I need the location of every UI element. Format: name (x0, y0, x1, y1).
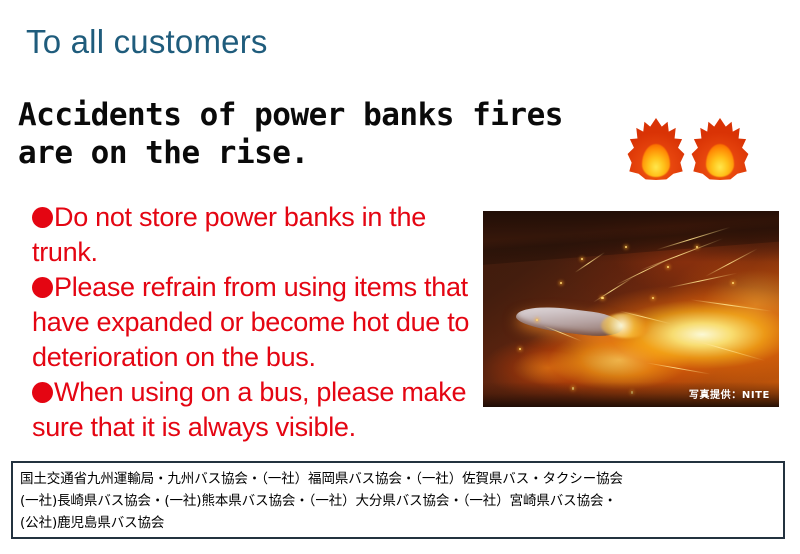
spark-streak (691, 299, 773, 312)
spark-streak (574, 252, 604, 273)
headline: Accidents of power banks fires are on th… (18, 96, 718, 172)
bullet-dot-icon (32, 207, 53, 228)
ember-dot (581, 258, 583, 260)
bullet-dot-icon (32, 277, 53, 298)
list-item-text: Please refrain from using items that hav… (32, 272, 469, 372)
fire-emoji (691, 118, 749, 180)
list-item-text: Do not store power banks in the trunk. (32, 202, 426, 267)
fire-emoji-inner-flame (706, 144, 734, 177)
ember-dot (625, 246, 627, 248)
advisory-list: Do not store power banks in the trunk. P… (32, 200, 482, 445)
poster-canvas: To all customers Accidents of power bank… (0, 0, 800, 554)
spark-layer (483, 211, 779, 407)
organizers-text: 国土交通省九州運輸局・九州バス協会・（一社）福岡県バス協会・（一社）佐賀県バス・… (20, 468, 776, 534)
fire-photo: 写真提供：NITE (483, 211, 779, 407)
list-item: When using on a bus, please make sure th… (32, 375, 482, 445)
page-title: To all customers (26, 24, 268, 60)
ember-dot (732, 282, 734, 284)
photo-credit: 写真提供：NITE (689, 386, 770, 401)
organizers-box: 国土交通省九州運輸局・九州バス協会・（一社）福岡県バス協会・（一社）佐賀県バス・… (11, 461, 785, 539)
spark-streak (680, 336, 766, 362)
headline-line-2: are on the rise. (18, 134, 718, 172)
spark-streak (593, 277, 634, 303)
list-item-text: When using on a bus, please make sure th… (32, 377, 466, 442)
ember-dot (601, 297, 603, 299)
ember-dot (560, 282, 562, 284)
ember-dot (536, 319, 538, 321)
spark-streak (667, 272, 737, 288)
headline-line-1: Accidents of power banks fires (18, 97, 563, 133)
fire-emoji (627, 118, 685, 180)
fire-emoji-inner-flame (642, 144, 670, 177)
list-item: Please refrain from using items that hav… (32, 270, 482, 375)
bullet-dot-icon (32, 382, 53, 403)
spark-streak (620, 310, 672, 324)
ember-dot (652, 297, 654, 299)
spark-streak (646, 362, 710, 375)
fire-emoji-group (627, 118, 757, 180)
ember-dot (519, 348, 521, 350)
spark-streak (543, 325, 582, 342)
list-item: Do not store power banks in the trunk. (32, 200, 482, 270)
ember-dot (667, 266, 669, 268)
